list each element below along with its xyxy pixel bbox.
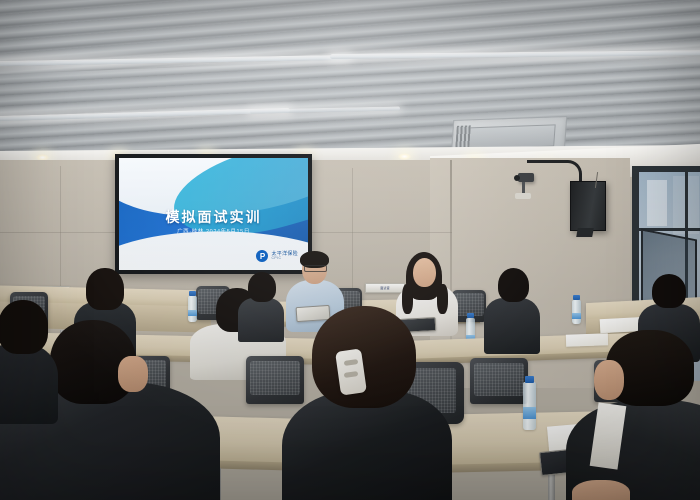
bottle-cap [525, 376, 534, 383]
foreground-ear-cheek [118, 356, 148, 392]
office-chair[interactable] [470, 358, 528, 404]
ceiling [0, 0, 700, 162]
presentation-slide: 模拟面试实训 广西·桂林 2024年5月15日 P 太平洋保险 CPIC [119, 158, 308, 270]
window-building-reflection [647, 180, 667, 226]
logo-mark-icon: P [256, 250, 268, 262]
ceiling-shading [0, 0, 700, 162]
slide-subtitle: 广西·桂林 2024年5月15日 [119, 227, 308, 235]
foreground-attendee-right [566, 330, 700, 500]
logo-text-en: CPIC [271, 257, 298, 261]
bottle-label [572, 313, 581, 319]
attendee-torso [238, 298, 284, 342]
attendee-dark-suit [484, 268, 540, 346]
attendee-left-edge [0, 300, 58, 420]
slide-title: 模拟面试实训 [119, 207, 308, 227]
water-bottle[interactable] [523, 382, 536, 430]
eyeglasses-icon [304, 265, 327, 272]
attendee-hair [498, 268, 529, 302]
projection-screen: 模拟面试实训 广西·桂林 2024年5月15日 P 太平洋保险 CPIC [115, 154, 312, 274]
conference-room-photo: 模拟面试实训 广西·桂林 2024年5月15日 P 太平洋保险 CPIC 面试官… [0, 0, 700, 500]
attendee-hair [86, 268, 124, 310]
attendee-hair [0, 300, 48, 354]
downlight [398, 153, 411, 160]
foreground-ear-cheek [594, 360, 624, 400]
bottle-label [523, 407, 536, 419]
attendee-hair [248, 272, 276, 302]
foreground-hair [312, 306, 416, 408]
slide-logo: P 太平洋保险 CPIC [256, 250, 298, 262]
water-bottle[interactable] [572, 300, 581, 324]
camera-wall-bracket [515, 193, 531, 199]
attendee-dark-suit [238, 272, 284, 336]
chair-mesh-back [474, 363, 524, 396]
security-camera-icon [518, 173, 534, 182]
foreground-attendee-center [282, 306, 452, 500]
attendee-torso [0, 344, 58, 424]
panelist-head [413, 258, 436, 287]
speaker-bracket [576, 228, 594, 237]
foreground-hand [572, 480, 630, 500]
bottle-cap [573, 295, 580, 300]
name-placard-text: 面试官 [380, 286, 390, 290]
attendee-torso [484, 298, 540, 354]
wall-speaker [570, 181, 606, 231]
logo-text: 太平洋保险 CPIC [271, 252, 298, 261]
attendee-hair [652, 274, 686, 308]
bottle-cap [467, 313, 474, 318]
